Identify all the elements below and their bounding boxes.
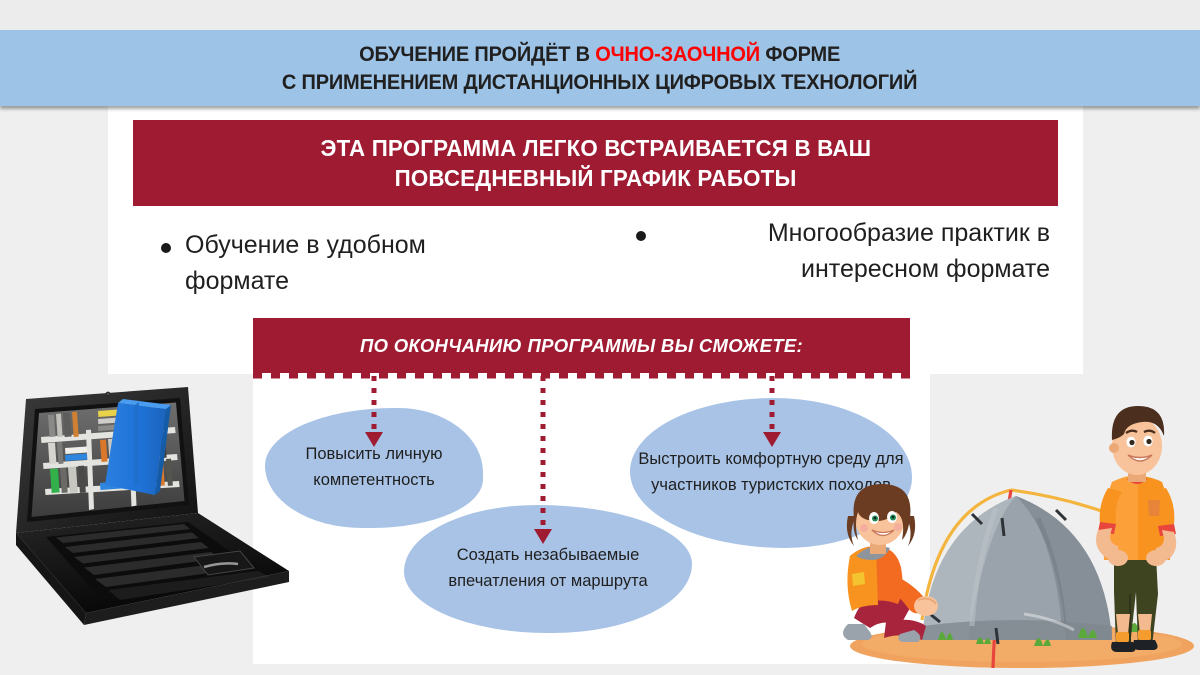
laptop-bookshelf-illustration <box>8 385 298 645</box>
bullet-dot-icon <box>161 243 171 253</box>
outcomes-banner-title: ПО ОКОНЧАНИЮ ПРОГРАММЫ ВЫ СМОЖЕТЕ: <box>360 335 803 357</box>
slide-top-margin <box>0 0 1200 30</box>
header-line-1-prefix: ОБУЧЕНИЕ ПРОЙДЁТ В <box>359 42 595 66</box>
outcome-text-2: Создать незабываемые впечатления от марш… <box>404 543 692 594</box>
benefit-text-1: Обучение в удобном формате <box>185 228 515 299</box>
header-banner: ОБУЧЕНИЕ ПРОЙДЁТ В ОЧНО-ЗАОЧНОЙ ФОРМЕ С … <box>0 30 1200 106</box>
header-line-1: ОБУЧЕНИЕ ПРОЙДЁТ В ОЧНО-ЗАОЧНОЙ ФОРМЕ <box>359 40 840 68</box>
outcomes-banner: ПО ОКОНЧАНИЮ ПРОГРАММЫ ВЫ СМОЖЕТЕ: <box>253 318 910 373</box>
header-line-1-suffix: ФОРМЕ <box>760 42 840 66</box>
campers-tent-illustration <box>826 378 1200 668</box>
bullet-dot-icon <box>636 231 646 241</box>
program-highlight-banner: ЭТА ПРОГРАММА ЛЕГКО ВСТРАИВАЕТСЯ В ВАШ П… <box>133 120 1058 206</box>
header-line-2: С ПРИМЕНЕНИЕМ ДИСТАНЦИОННЫХ ЦИФРОВЫХ ТЕХ… <box>282 68 917 96</box>
program-highlight-line-2: ПОВСЕДНЕВНЫЙ ГРАФИК РАБОТЫ <box>395 163 797 193</box>
presentation-slide: ОБУЧЕНИЕ ПРОЙДЁТ В ОЧНО-ЗАОЧНОЙ ФОРМЕ С … <box>0 0 1200 675</box>
outcome-bubble-2: Создать незабываемые впечатления от марш… <box>404 505 692 633</box>
benefit-text-2: Многообразие практик в интересном формат… <box>660 216 1050 287</box>
program-highlight-line-1: ЭТА ПРОГРАММА ЛЕГКО ВСТРАИВАЕТСЯ В ВАШ <box>320 133 871 163</box>
header-line-1-highlight: ОЧНО-ЗАОЧНОЙ <box>596 42 761 66</box>
